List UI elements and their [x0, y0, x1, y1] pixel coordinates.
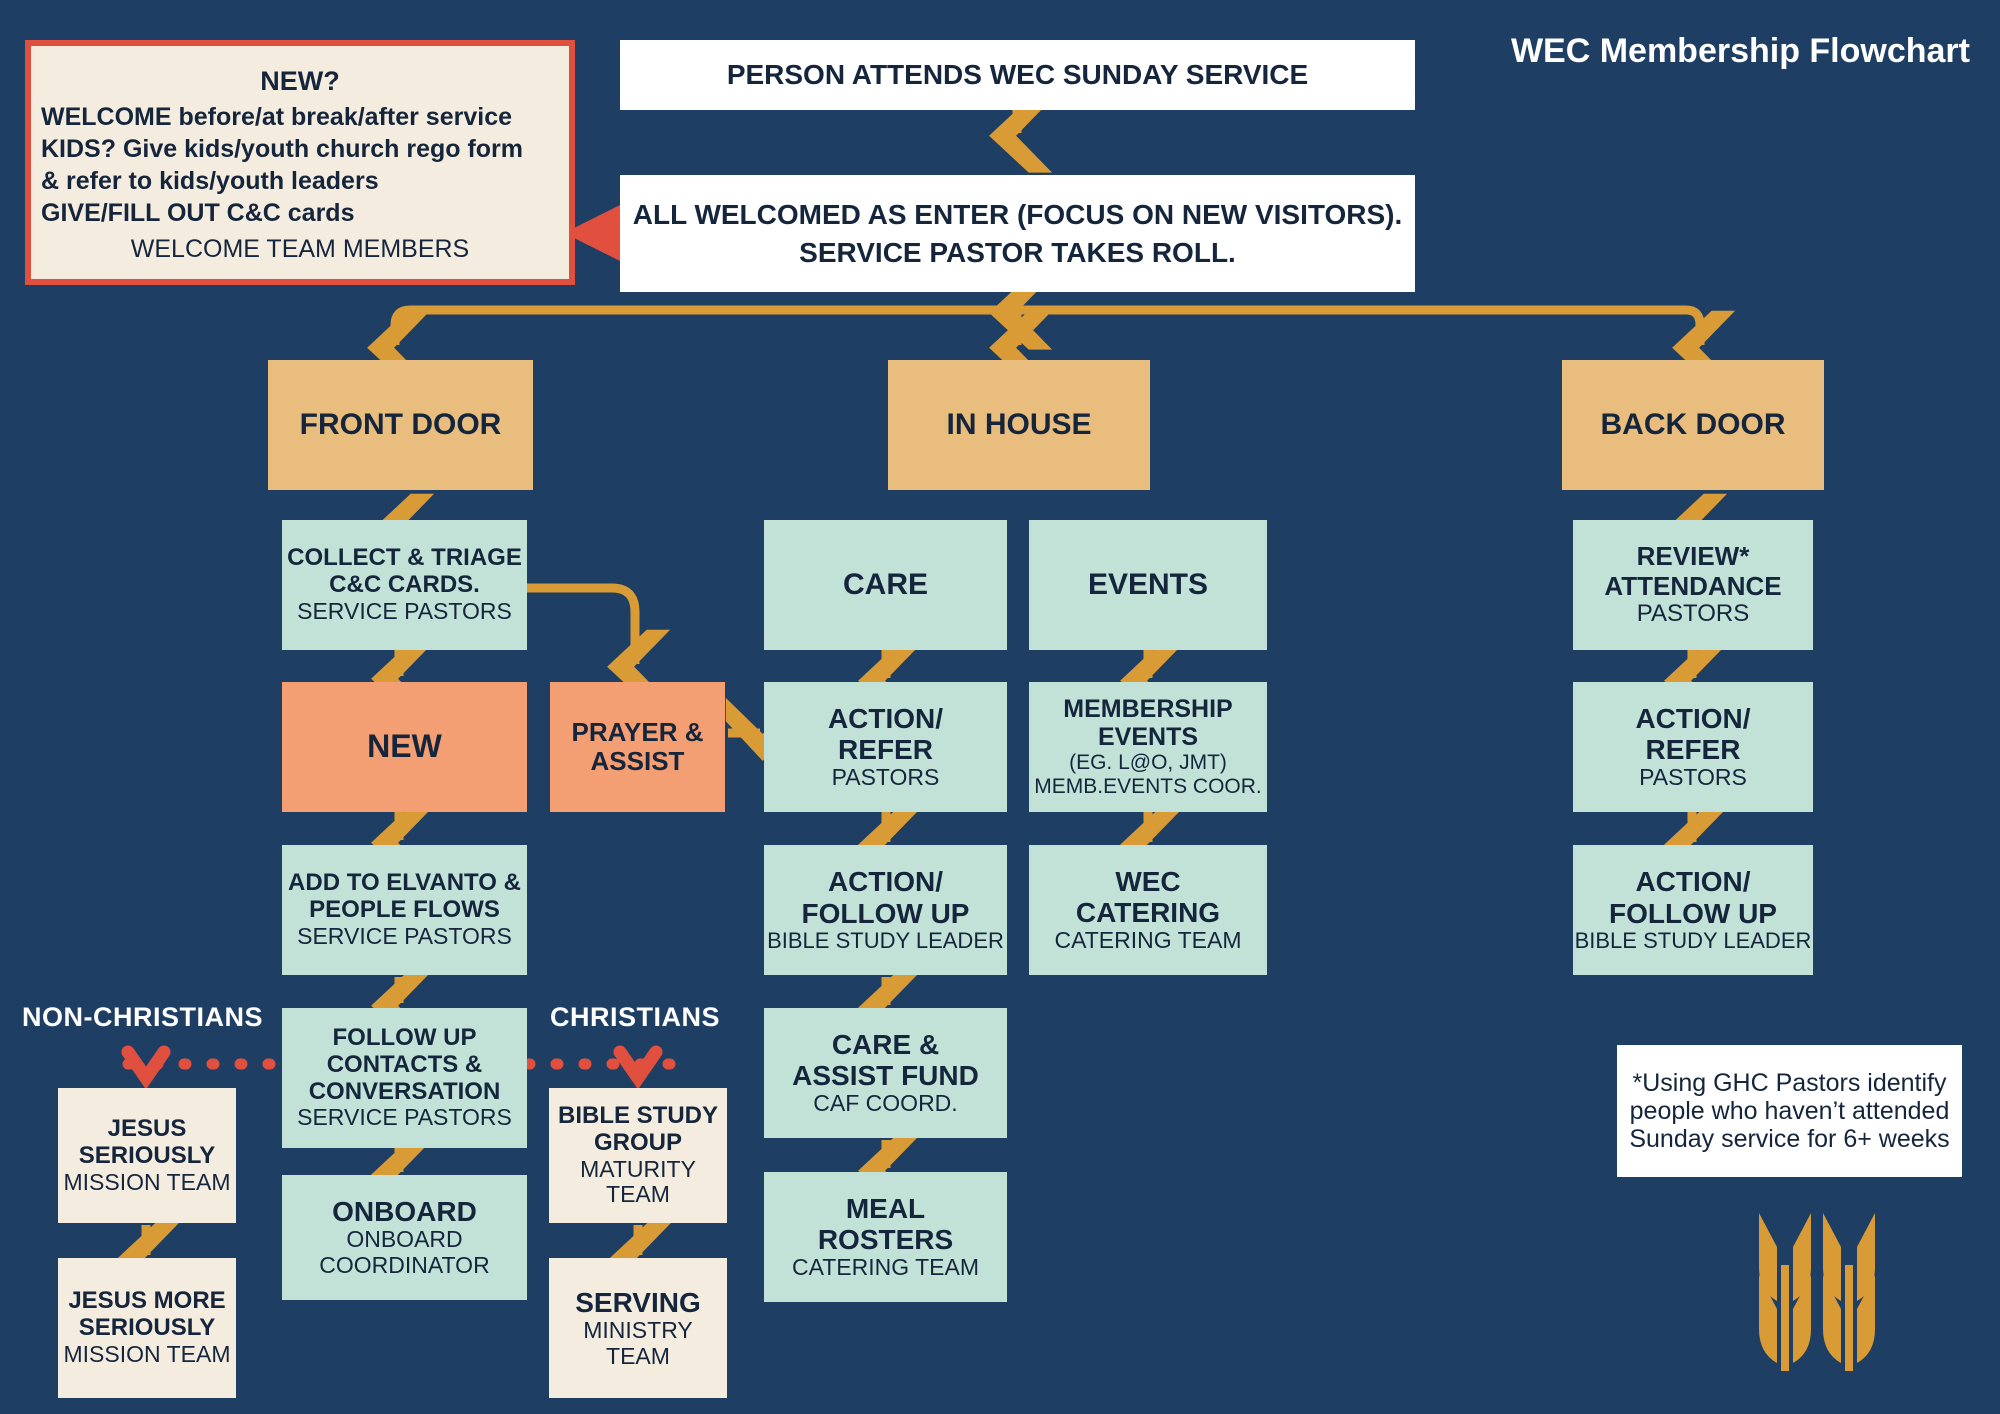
bible-study-line1: BIBLE STUDY: [558, 1103, 718, 1130]
elvanto-owner: SERVICE PASTORS: [297, 924, 512, 950]
box-add-to-elvanto: ADD TO ELVANTO & PEOPLE FLOWS SERVICE PA…: [282, 845, 527, 975]
box-membership-events: MEMBERSHIP EVENTS (EG. L@O, JMT) MEMB.EV…: [1029, 682, 1267, 812]
footnote-box: *Using GHC Pastors identify people who h…: [1617, 1045, 1962, 1177]
collect-line1: COLLECT & TRIAGE: [287, 545, 522, 572]
care-b2-line2: FOLLOW UP: [802, 898, 970, 929]
followup-line3: CONVERSATION: [309, 1079, 501, 1106]
box-jesus-seriously: JESUS SERIOUSLY MISSION TEAM: [58, 1088, 236, 1223]
welcome-box-line5: GIVE/FILL OUT C&C cards: [41, 199, 559, 227]
flowchart-canvas: WEC Membership Flowchart NEW? WELCOME be…: [0, 0, 2000, 1414]
care-b3-line1: CARE &: [832, 1029, 939, 1060]
onboard-line1: ONBOARD: [332, 1196, 477, 1227]
events-b1-owner1: (EG. L@O, JMT): [1069, 751, 1227, 775]
care-b3-owner: CAF COORD.: [813, 1091, 957, 1117]
box-meal-rosters: MEAL ROSTERS CATERING TEAM: [764, 1172, 1007, 1302]
collect-owner: SERVICE PASTORS: [297, 599, 512, 625]
step-person-attends-service: PERSON ATTENDS WEC SUNDAY SERVICE: [620, 40, 1415, 110]
welcome-box-line4: & refer to kids/youth leaders: [41, 167, 559, 195]
events-b2-line1: WEC: [1115, 866, 1180, 897]
followup-line2: CONTACTS &: [327, 1052, 483, 1079]
step-all-welcomed: ALL WELCOMED AS ENTER (FOCUS ON NEW VISI…: [620, 175, 1415, 292]
bible-study-owner: MATURITY TEAM: [549, 1157, 727, 1209]
page-title: WEC Membership Flowchart: [1511, 32, 1970, 71]
box-onboard: ONBOARD ONBOARD COORDINATOR: [282, 1175, 527, 1300]
care-b1-owner: PASTORS: [832, 765, 940, 791]
step2-line2: SERVICE PASTOR TAKES ROLL.: [799, 237, 1236, 268]
events-b1-owner2: MEMB.EVENTS COOR.: [1034, 775, 1262, 799]
bd-b1-line1: REVIEW*: [1637, 542, 1750, 571]
welcome-box-line1: NEW?: [41, 66, 559, 96]
jesus2-line2: SERIOUSLY: [79, 1315, 216, 1342]
category-front-door: FRONT DOOR: [268, 360, 533, 490]
care-label: CARE: [843, 568, 928, 602]
box-collect-triage-cards: COLLECT & TRIAGE C&C CARDS. SERVICE PAST…: [282, 520, 527, 650]
box-new: NEW: [282, 682, 527, 812]
care-b4-owner: CATERING TEAM: [792, 1255, 979, 1281]
welcome-box-owner: WELCOME TEAM MEMBERS: [41, 235, 559, 263]
care-b4-line2: ROSTERS: [818, 1224, 953, 1255]
box-review-attendance: REVIEW* ATTENDANCE PASTORS: [1573, 520, 1813, 650]
label-christians: CHRISTIANS: [550, 1002, 720, 1033]
box-prayer-assist: PRAYER & ASSIST: [550, 682, 725, 812]
footnote-line3: Sunday service for 6+ weeks: [1629, 1125, 1949, 1153]
box-serving: SERVING MINISTRY TEAM: [549, 1258, 727, 1398]
onboard-owner2: COORDINATOR: [319, 1253, 489, 1279]
footnote-line1: *Using GHC Pastors identify: [1632, 1069, 1946, 1097]
box-care: CARE: [764, 520, 1007, 650]
bd-b1-line2: ATTENDANCE: [1604, 572, 1781, 601]
care-b1-line2: REFER: [838, 734, 933, 765]
jesus1-line2: SERIOUSLY: [79, 1143, 216, 1170]
step2-line1: ALL WELCOMED AS ENTER (FOCUS ON NEW VISI…: [633, 199, 1403, 230]
wheat-sheaf-logo: [1715, 1205, 1915, 1375]
front-door-label: FRONT DOOR: [300, 408, 502, 442]
care-b2-owner: BIBLE STUDY LEADER: [767, 929, 1004, 954]
followup-line1: FOLLOW UP: [333, 1025, 477, 1052]
care-b1-line1: ACTION/: [828, 703, 943, 734]
box-care-action-follow-up: ACTION/ FOLLOW UP BIBLE STUDY LEADER: [764, 845, 1007, 975]
bible-study-line2: GROUP: [594, 1130, 682, 1157]
prayer-line1: PRAYER &: [572, 718, 704, 747]
events-b2-owner: CATERING TEAM: [1055, 928, 1242, 954]
bd-b1-owner: PASTORS: [1637, 601, 1749, 628]
bd-b3-line1: ACTION/: [1635, 866, 1750, 897]
welcome-box-line2: WELCOME before/at break/after service: [41, 103, 559, 131]
step1-label: PERSON ATTENDS WEC SUNDAY SERVICE: [727, 59, 1308, 90]
elvanto-line1: ADD TO ELVANTO &: [288, 870, 521, 897]
box-bible-study-group: BIBLE STUDY GROUP MATURITY TEAM: [549, 1088, 727, 1223]
bd-b2-line1: ACTION/: [1635, 703, 1750, 734]
box-jesus-more-seriously: JESUS MORE SERIOUSLY MISSION TEAM: [58, 1258, 236, 1398]
box-back-door-action-refer: ACTION/ REFER PASTORS: [1573, 682, 1813, 812]
prayer-line2: ASSIST: [591, 747, 685, 776]
events-b1-line1: MEMBERSHIP: [1063, 695, 1232, 723]
category-back-door: BACK DOOR: [1562, 360, 1824, 490]
box-events: EVENTS: [1029, 520, 1267, 650]
care-b2-line1: ACTION/: [828, 866, 943, 897]
category-in-house: IN HOUSE: [888, 360, 1150, 490]
footnote-line2: people who haven’t attended: [1630, 1097, 1950, 1125]
welcome-box-line3: KIDS? Give kids/youth church rego form: [41, 135, 559, 163]
events-label: EVENTS: [1088, 568, 1208, 602]
box-wec-catering: WEC CATERING CATERING TEAM: [1029, 845, 1267, 975]
events-b1-line2: EVENTS: [1098, 723, 1198, 751]
box-care-action-refer: ACTION/ REFER PASTORS: [764, 682, 1007, 812]
onboard-owner1: ONBOARD: [346, 1227, 462, 1253]
serving-line1: SERVING: [575, 1287, 701, 1318]
box-care-assist-fund: CARE & ASSIST FUND CAF COORD.: [764, 1008, 1007, 1138]
welcome-team-instructions-box: NEW? WELCOME before/at break/after servi…: [25, 40, 575, 285]
in-house-label: IN HOUSE: [946, 408, 1091, 442]
serving-owner: MINISTRY TEAM: [549, 1318, 727, 1370]
followup-owner: SERVICE PASTORS: [297, 1105, 512, 1131]
bd-b3-line2: FOLLOW UP: [1609, 898, 1777, 929]
elvanto-line2: PEOPLE FLOWS: [309, 897, 500, 924]
jesus2-line1: JESUS MORE: [68, 1288, 225, 1315]
care-b4-line1: MEAL: [846, 1193, 925, 1224]
bd-b3-owner: BIBLE STUDY LEADER: [1575, 929, 1812, 954]
jesus2-owner: MISSION TEAM: [64, 1342, 231, 1368]
box-back-door-action-follow-up: ACTION/ FOLLOW UP BIBLE STUDY LEADER: [1573, 845, 1813, 975]
jesus1-owner: MISSION TEAM: [64, 1170, 231, 1196]
bd-b2-owner: PASTORS: [1639, 765, 1747, 791]
bd-b2-line2: REFER: [1646, 734, 1741, 765]
jesus1-line1: JESUS: [108, 1116, 187, 1143]
back-door-label: BACK DOOR: [1601, 408, 1786, 442]
label-non-christians: NON-CHRISTIANS: [22, 1002, 263, 1033]
new-label: NEW: [367, 729, 442, 765]
collect-line2: C&C CARDS.: [329, 572, 480, 599]
events-b2-line2: CATERING: [1076, 897, 1220, 928]
box-follow-up-contacts: FOLLOW UP CONTACTS & CONVERSATION SERVIC…: [282, 1008, 527, 1148]
care-b3-line2: ASSIST FUND: [792, 1060, 979, 1091]
